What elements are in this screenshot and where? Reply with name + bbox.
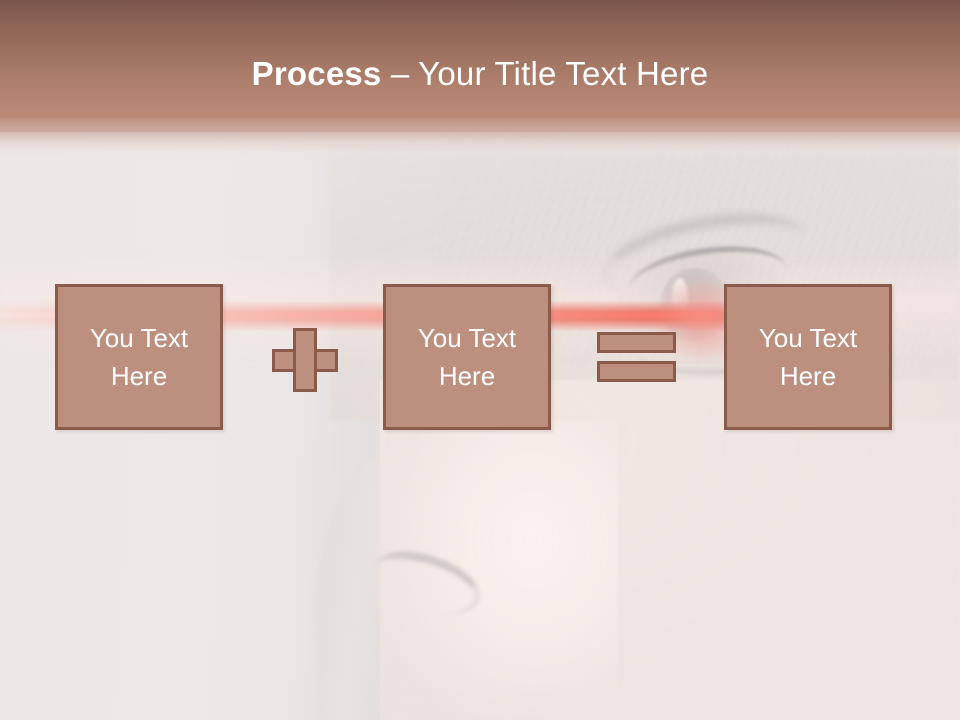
process-box-3[interactable]: You Text Here [724, 284, 892, 430]
process-box-2-line2: Here [418, 357, 516, 395]
title-band-fade [0, 118, 960, 160]
process-box-1-line2: Here [90, 357, 188, 395]
equals-icon [597, 332, 676, 382]
process-box-3-line2: Here [759, 357, 857, 395]
slide-canvas: Process – Your Title Text Here You Text … [0, 0, 960, 720]
plus-icon-center-fill [296, 352, 314, 369]
page-title: Process – Your Title Text Here [0, 54, 960, 94]
process-box-2-line1: You Text [418, 319, 516, 357]
page-title-strong: Process [252, 55, 382, 92]
plus-icon [272, 328, 338, 392]
process-box-1[interactable]: You Text Here [55, 284, 223, 430]
page-title-rest: – Your Title Text Here [381, 55, 708, 92]
equals-icon-bottom-bar [597, 361, 676, 382]
process-box-3-line1: You Text [759, 319, 857, 357]
equals-icon-top-bar [597, 332, 676, 353]
process-box-1-line1: You Text [90, 319, 188, 357]
process-box-1-text: You Text Here [90, 319, 188, 395]
process-box-2-text: You Text Here [418, 319, 516, 395]
process-box-3-text: You Text Here [759, 319, 857, 395]
process-box-2[interactable]: You Text Here [383, 284, 551, 430]
